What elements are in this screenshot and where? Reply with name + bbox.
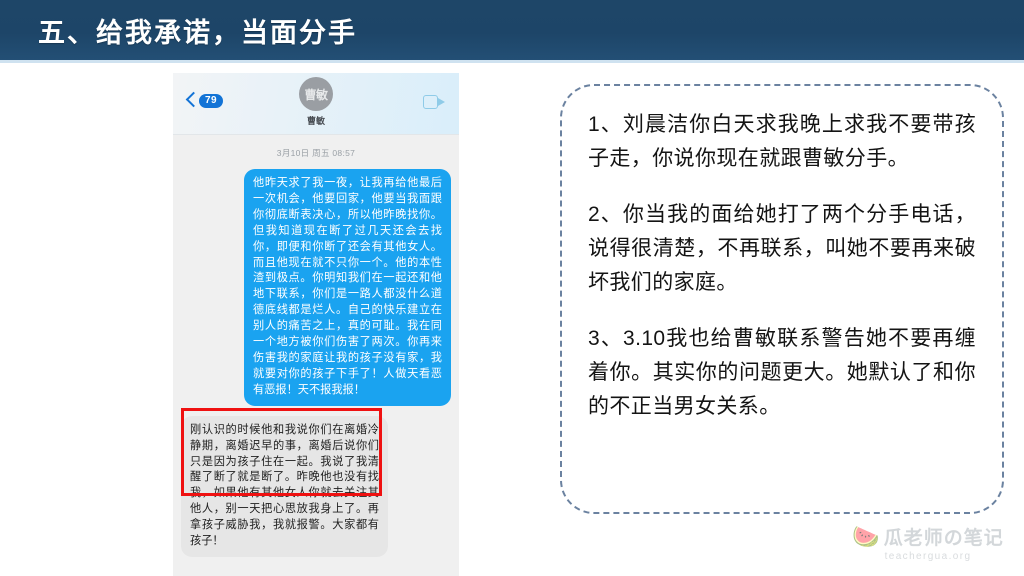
watermelon-icon: 🍉 <box>852 526 879 548</box>
banner-underline <box>0 60 1024 63</box>
dashed-note-box: 1、刘晨洁你白天求我晚上求我不要带孩子走，你说你现在就跟曹敏分手。 2、你当我的… <box>560 84 1004 514</box>
note-item-3: 3、3.10我也给曹敏联系警告她不要再缠着你。其实你的问题更大。她默认了和你的不… <box>588 322 976 424</box>
slide-root: 五、给我承诺，当面分手 79 曹敏 曹敏 3月10日 周五 08:57 他昨天求… <box>0 0 1024 576</box>
message-bubble-incoming: 刚认识的时候他和我说你们在离婚冷静期，离婚迟早的事，离婚后说你们只是因为孩子住在… <box>181 416 388 557</box>
video-camera-body <box>423 95 438 109</box>
message-row-incoming: 刚认识的时候他和我说你们在离婚冷静期，离婚迟早的事，离婚后说你们只是因为孩子住在… <box>181 416 451 557</box>
watermark-url: teachergua.org <box>885 551 972 562</box>
watermark-row: 🍉 瓜老师の笔记 <box>852 523 1003 550</box>
video-camera-lens <box>438 98 445 106</box>
slide-header-banner: 五、给我承诺，当面分手 <box>0 0 1024 60</box>
watermark-text: 瓜老师の笔记 <box>884 523 1004 550</box>
chat-peer[interactable]: 曹敏 曹敏 <box>173 77 459 127</box>
video-camera-icon[interactable] <box>423 95 445 109</box>
page-title: 五、给我承诺，当面分手 <box>38 11 357 50</box>
chat-screenshot-panel: 79 曹敏 曹敏 3月10日 周五 08:57 他昨天求了我一夜，让我再给他最后… <box>173 73 459 576</box>
avatar: 曹敏 <box>299 77 333 111</box>
peer-name: 曹敏 <box>307 114 325 127</box>
note-item-1: 1、刘晨洁你白天求我晚上求我不要带孩子走，你说你现在就跟曹敏分手。 <box>588 108 976 176</box>
message-row-outgoing: 他昨天求了我一夜，让我再给他最后一次机会，他要回家，他要当我面跟你彻底断表决心，… <box>181 169 451 406</box>
chat-body: 3月10日 周五 08:57 他昨天求了我一夜，让我再给他最后一次机会，他要回家… <box>173 147 459 557</box>
message-bubble-outgoing: 他昨天求了我一夜，让我再给他最后一次机会，他要回家，他要当我面跟你彻底断表决心，… <box>244 169 451 406</box>
note-item-2: 2、你当我的面给她打了两个分手电话，说得很清楚，不再联系，叫她不要再来破坏我们的… <box>588 198 976 300</box>
message-timestamp: 3月10日 周五 08:57 <box>181 147 451 159</box>
watermark: 🍉 瓜老师の笔记 teachergua.org <box>838 523 1018 562</box>
chat-header: 79 曹敏 曹敏 <box>173 73 459 135</box>
